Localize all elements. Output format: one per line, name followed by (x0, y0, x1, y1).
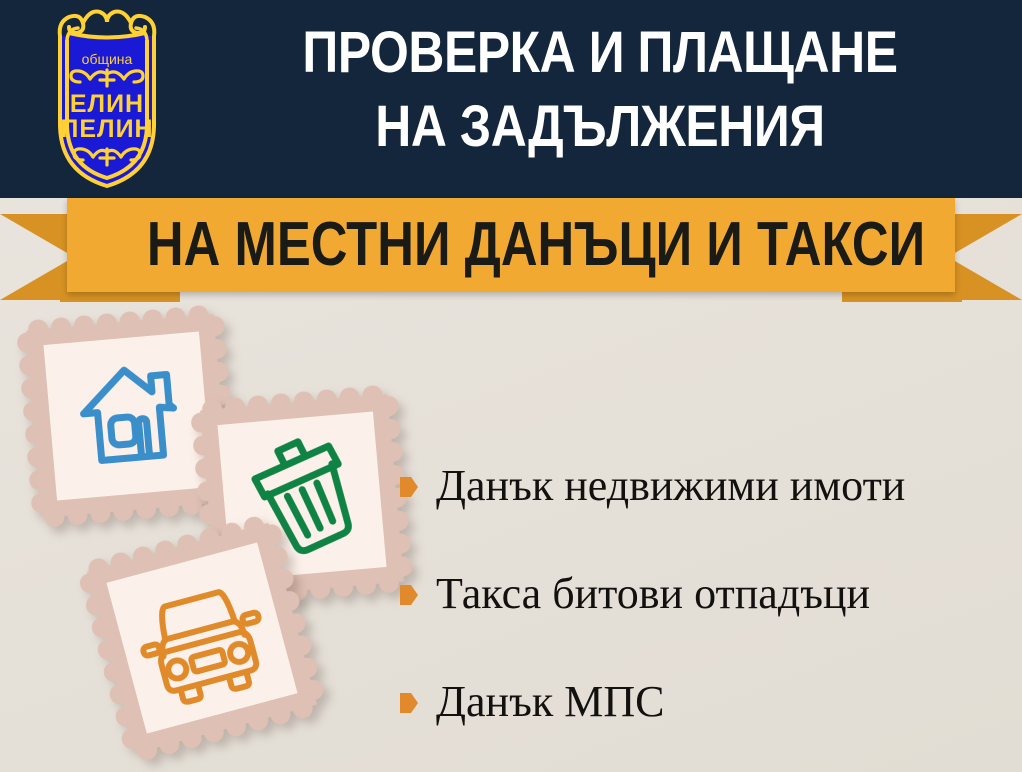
crest-name-line1: ЕЛИН (70, 90, 144, 118)
page-title-line-2: НА ЗАДЪЛЖЕНИЯ (247, 90, 952, 164)
list-item[interactable]: Такса битови отпадъци (400, 540, 1020, 648)
crest-name-line2: ПЕЛИН (60, 115, 153, 143)
list-item[interactable]: Данък МПС (400, 648, 1020, 756)
elin-pelin-municipality-crest: община ЕЛИН ПЕЛИН (38, 6, 176, 192)
page-title-line-1: ПРОВЕРКА И ПЛАЩАНЕ (302, 20, 897, 85)
tax-types-list: Данък недвижими имоти Такса битови отпад… (400, 432, 1020, 756)
list-item-label: Такса битови отпадъци (436, 569, 870, 619)
ribbon-subtitle: НА МЕСТНИ ДАНЪЦИ И ТАКСИ (147, 208, 875, 282)
page-title: ПРОВЕРКА И ПЛАЩАНЕ НА ЗАДЪЛЖЕНИЯ (247, 16, 952, 164)
crest-top-text: община (82, 51, 133, 67)
list-item-label: Данък недвижими имоти (436, 461, 905, 511)
triangle-bullet-icon (400, 692, 418, 714)
list-item-label: Данък МПС (436, 677, 664, 727)
poster-canvas: община ЕЛИН ПЕЛИН ПРОВЕРКА (0, 0, 1022, 772)
triangle-bullet-icon (400, 476, 418, 498)
triangle-bullet-icon (400, 584, 418, 606)
list-item[interactable]: Данък недвижими имоти (400, 432, 1020, 540)
ribbon-band: НА МЕСТНИ ДАНЪЦИ И ТАКСИ (67, 198, 955, 292)
